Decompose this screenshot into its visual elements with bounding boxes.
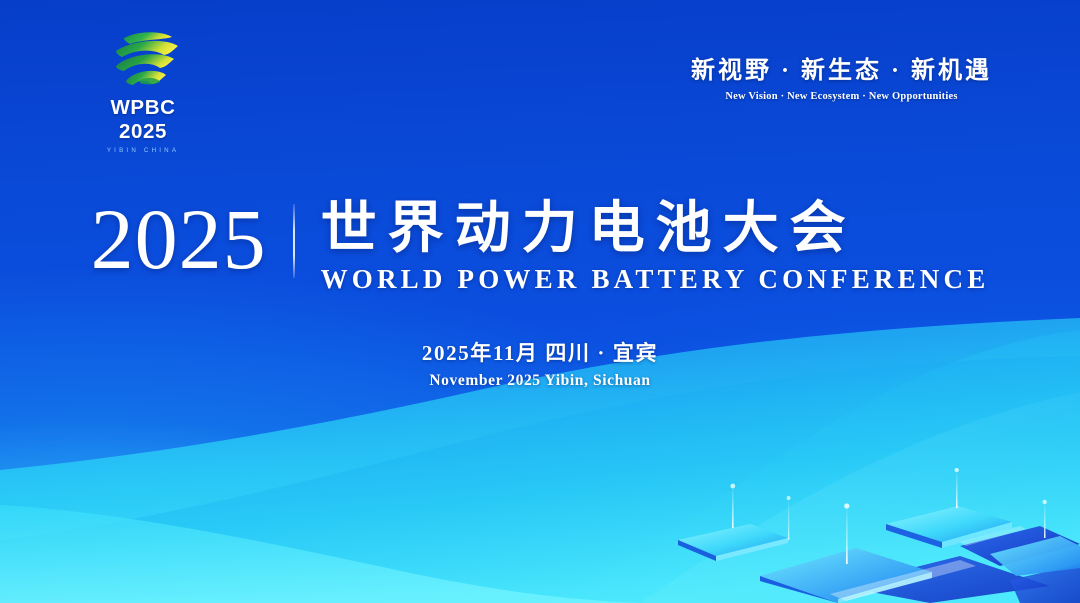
main-title: 2025 世界动力电池大会 WORLD POWER BATTERY CONFER… bbox=[0, 196, 1080, 294]
title-divider bbox=[293, 204, 295, 278]
title-year: 2025 bbox=[91, 196, 267, 282]
logo-subtext: YIBIN CHINA bbox=[84, 147, 202, 154]
logo-wordmark: WPBC 2025 bbox=[84, 96, 202, 144]
event-date-english: November 2025 Yibin, Sichuan bbox=[0, 372, 1080, 390]
conference-banner: WPBC 2025 YIBIN CHINA 新视野 · 新生态 · 新机遇 Ne… bbox=[0, 0, 1080, 603]
tagline-chinese: 新视野 · 新生态 · 新机遇 bbox=[691, 50, 992, 85]
event-date-chinese: 2025年11月 四川 · 宜宾 bbox=[0, 337, 1080, 367]
wpbc-logo: WPBC 2025 YIBIN CHINA bbox=[84, 26, 202, 130]
title-english: WORLD POWER BATTERY CONFERENCE bbox=[321, 264, 990, 294]
tagline-english: New Vision · New Ecosystem · New Opportu… bbox=[691, 91, 992, 102]
title-chinese: 世界动力电池大会 bbox=[321, 198, 990, 260]
globe-arcs-icon bbox=[100, 26, 186, 94]
tagline: 新视野 · 新生态 · 新机遇 New Vision · New Ecosyst… bbox=[691, 50, 992, 102]
isometric-battery-panels-graphic bbox=[660, 468, 1080, 603]
event-date-venue: 2025年11月 四川 · 宜宾 November 2025 Yibin, Si… bbox=[0, 337, 1080, 390]
